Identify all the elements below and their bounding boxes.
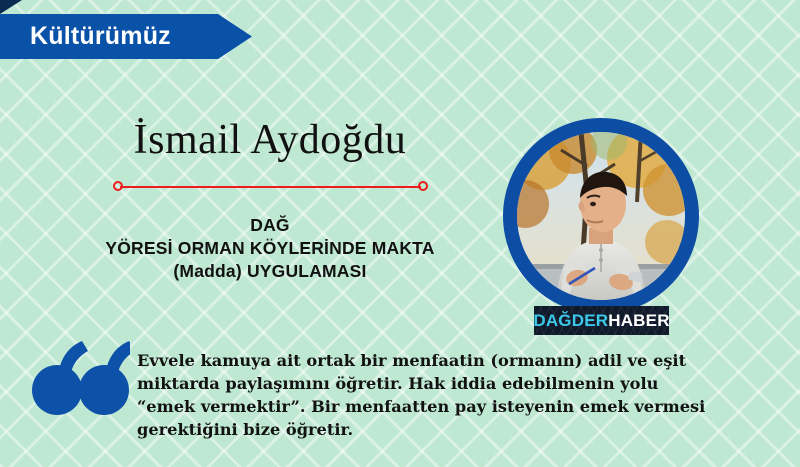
quote-text: Evvele kamuya ait ortak bir menfaatin (o… [137,349,777,441]
quote-mark-icon [30,340,130,418]
person-name: İsmail Aydoğdu [60,118,480,162]
subtitle-line: YÖRESİ ORMAN KÖYLERİNDE MAKTA [60,237,480,260]
subtitle-line: (Madda) UYGULAMASI [60,260,480,283]
divider-line [120,186,421,188]
person-subtitle: DAĞ YÖRESİ ORMAN KÖYLERİNDE MAKTA (Madda… [60,214,480,283]
quote-line: “emek vermektir”. Bir menfaatten pay ist… [137,395,777,418]
quote-line: gerektiğini bize öğretir. [137,418,777,441]
poster-canvas: Kültürümüz İsmail Aydoğdu DAĞ YÖRESİ ORM… [0,0,800,467]
divider [113,180,428,194]
dagderhaber-logo: DAĞDERHABER [534,306,669,335]
logo-text-dagder: DAĞDER [533,311,608,331]
ribbon-label: Kültürümüz [30,14,171,59]
portrait-photo [517,132,685,300]
portrait-illustration [517,132,685,300]
person-block: İsmail Aydoğdu DAĞ YÖRESİ ORMAN KÖYLERİN… [60,118,480,283]
logo-text-haber: HABER [608,311,669,331]
ribbon-fold-icon [0,0,22,14]
portrait [503,118,699,314]
quote-line: Evvele kamuya ait ortak bir menfaatin (o… [137,349,777,372]
divider-dot-right-icon [418,181,428,191]
quote-line: miktarda paylaşımını öğretir. Hak iddia … [137,372,777,395]
subtitle-line: DAĞ [60,214,480,237]
ribbon-banner: Kültürümüz [0,14,252,59]
